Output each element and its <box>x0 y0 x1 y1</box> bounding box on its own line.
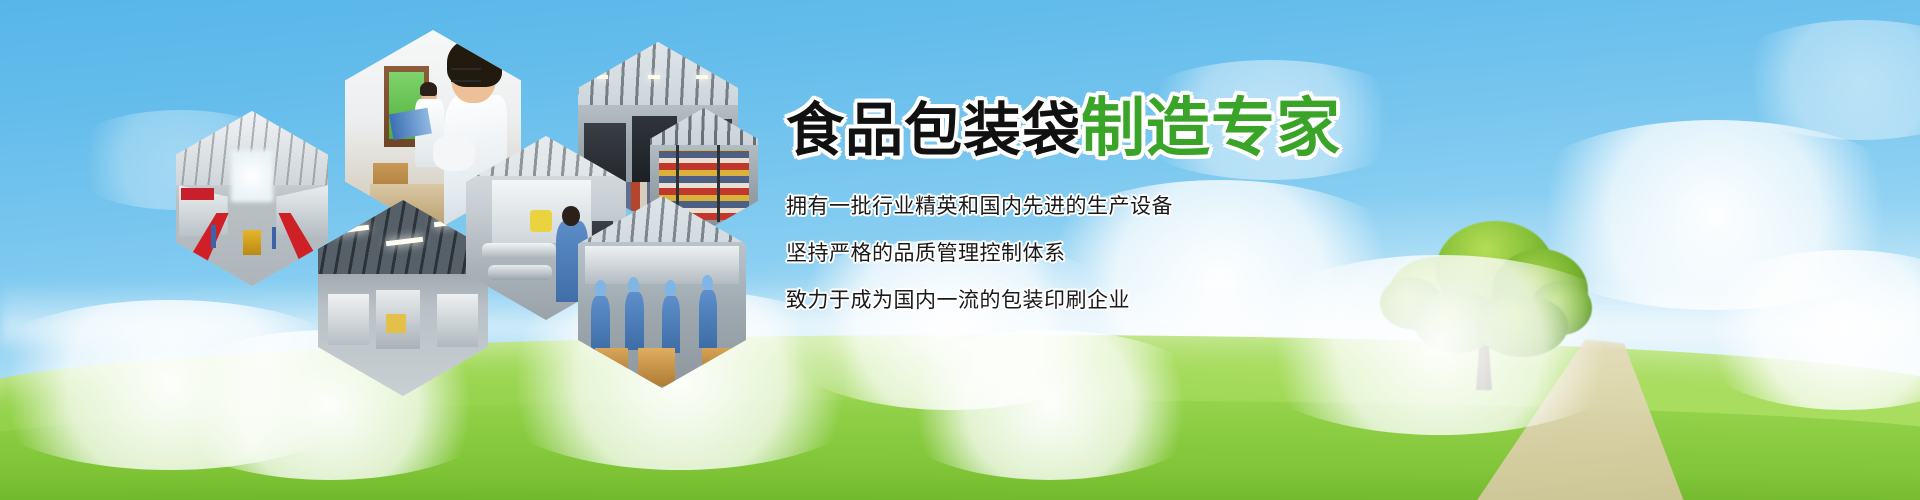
banner-subtitle-line-3: 致力于成为国内一流的包装印刷企业 <box>786 290 1486 311</box>
banner-subtitle-list: 拥有一批行业精英和国内先进的生产设备 坚持严格的品质管理控制体系 致力于成为国内… <box>786 196 1486 311</box>
hex-photo-warehouse-red-carpet[interactable] <box>176 111 328 286</box>
hero-banner: 食品包装袋制造专家 拥有一批行业精英和国内先进的生产设备 坚持严格的品质管理控制… <box>0 0 1920 500</box>
hex-photo-workshop-interior[interactable] <box>318 200 488 396</box>
banner-subtitle-line-1: 拥有一批行业精英和国内先进的生产设备 <box>786 196 1486 217</box>
photo-content <box>176 111 328 286</box>
headline-part-green: 制造专家 <box>1081 92 1341 164</box>
headline-part-dark: 食品包装袋 <box>786 98 1081 163</box>
banner-text-block: 食品包装袋制造专家 拥有一批行业精英和国内先进的生产设备 坚持严格的品质管理控制… <box>786 96 1486 337</box>
banner-subtitle-line-2: 坚持严格的品质管理控制体系 <box>786 243 1486 264</box>
banner-headline: 食品包装袋制造专家 <box>786 96 1486 160</box>
photo-content <box>318 200 488 396</box>
